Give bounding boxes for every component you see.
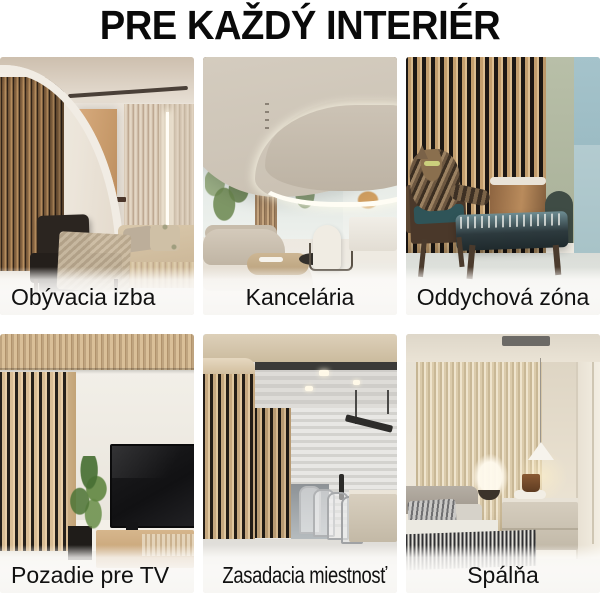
- gallery-cell-relaxation-zone[interactable]: Oddychová zóna: [406, 57, 600, 315]
- caption-text: Pozadie pre TV: [0, 564, 194, 593]
- caption-bedroom: Spálňa: [406, 545, 600, 593]
- gallery-cell-meeting-room[interactable]: Zasadacia miestnosť: [203, 334, 397, 593]
- caption-tv-backdrop: Pozadie pre TV: [0, 545, 194, 593]
- gallery-cell-tv-backdrop[interactable]: Pozadie pre TV: [0, 334, 194, 593]
- caption-text: Obývacia izba: [0, 286, 194, 315]
- caption-text: Spálňa: [406, 564, 600, 593]
- page-title: PRE KAŽDÝ INTERIÉR: [21, 0, 579, 51]
- gallery-cell-living-room[interactable]: Obývacia izba: [0, 57, 194, 315]
- caption-text: Oddychová zóna: [406, 286, 600, 315]
- caption-living-room: Obývacia izba: [0, 267, 194, 315]
- gallery-cell-bedroom[interactable]: Spálňa: [406, 334, 600, 593]
- promo-page: PRE KAŽDÝ INTERIÉR: [0, 0, 600, 600]
- caption-text: Kancelária: [203, 286, 397, 315]
- caption-text: Zasadacia miestnosť: [222, 564, 377, 593]
- caption-meeting-room: Zasadacia miestnosť: [203, 545, 397, 593]
- gallery-cell-office[interactable]: Kancelária: [203, 57, 397, 315]
- caption-relaxation-zone: Oddychová zóna: [406, 267, 600, 315]
- interior-gallery-grid: Obývacia izba: [0, 57, 600, 600]
- caption-office: Kancelária: [203, 267, 397, 315]
